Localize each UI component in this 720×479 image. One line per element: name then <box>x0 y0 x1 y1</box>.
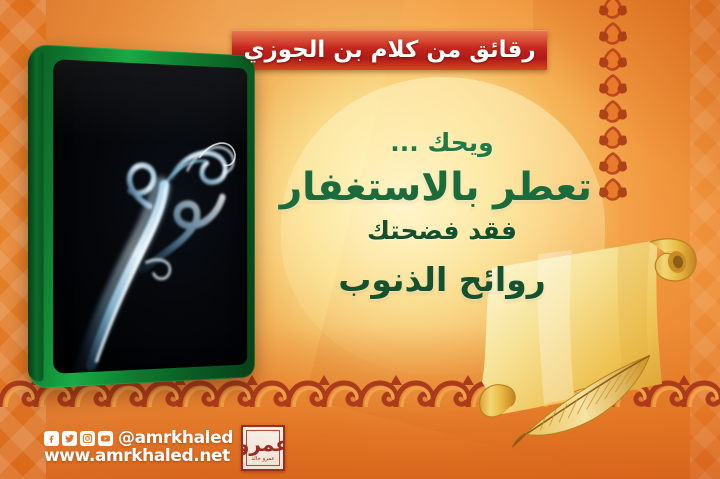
footer-branding: عمرو عمرو خالد <box>44 425 285 471</box>
social-handle[interactable]: @amrkhaled <box>118 430 233 447</box>
website-url[interactable]: www.amrkhaled.net <box>44 448 233 466</box>
instagram-icon[interactable] <box>80 431 95 446</box>
twitter-icon[interactable] <box>62 431 77 446</box>
banner-title-text: رقائق من كلام بن الجوزي <box>243 37 535 63</box>
logo-caption: عمرو خالد <box>251 457 275 463</box>
logo-calligraphy: عمرو <box>241 434 285 454</box>
quote-line-2: تعطر بالاستغفار <box>292 164 592 212</box>
facebook-icon[interactable] <box>44 431 59 446</box>
arabesque-vertical-band <box>598 0 628 206</box>
quote-line-3: فقد فضحتك <box>292 216 592 246</box>
title-banner: رقائق من كلام بن الجوزي <box>232 30 547 70</box>
display-screen <box>28 44 278 389</box>
footer-text-group: @amrkhaled www.amrkhaled.net <box>44 430 233 466</box>
quote-line-4: روائح الذنوب <box>292 260 592 300</box>
quote-block: ويحك ... تعطر بالاستغفار فقد فضحتك روائح… <box>292 128 592 299</box>
smoke-wisp-graphic <box>53 59 247 374</box>
screen-glass <box>53 59 247 374</box>
amr-khaled-logo[interactable]: عمرو عمرو خالد <box>241 425 285 471</box>
screen-side-edge <box>28 51 44 382</box>
social-links-row: @amrkhaled <box>44 430 233 447</box>
poster-canvas: رقائق من كلام بن الجوزي <box>0 0 720 479</box>
screen-bezel <box>28 44 255 389</box>
quote-line-1: ويحك ... <box>292 128 592 158</box>
youtube-icon[interactable] <box>98 431 113 446</box>
lozenge-pattern-right <box>690 0 720 479</box>
